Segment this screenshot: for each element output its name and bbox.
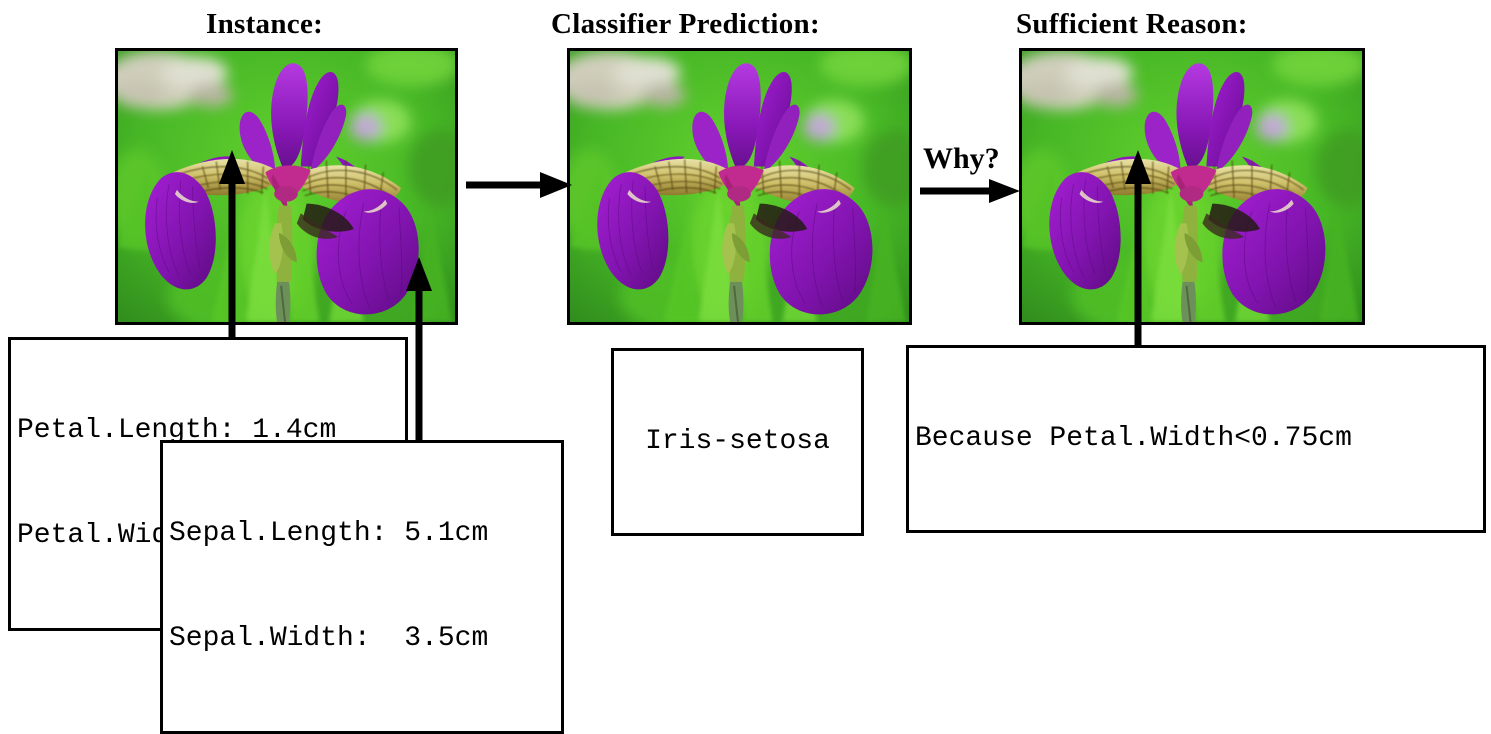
- prediction-flower-image: [567, 48, 912, 325]
- reason-text: Because Petal.Width<0.75cm: [915, 421, 1477, 456]
- panel-title-prediction: Classifier Prediction:: [551, 8, 820, 41]
- petal-pointer-arrow: [216, 148, 248, 348]
- sepal-width-text: Sepal.Width: 3.5cm: [169, 621, 555, 656]
- prediction-text: Iris-setosa: [620, 424, 855, 459]
- panel-title-reason: Sufficient Reason:: [1016, 8, 1248, 41]
- iris-flower-photo: [1022, 51, 1362, 322]
- reason-flower-image: [1019, 48, 1365, 325]
- prediction-label-box: Iris-setosa: [611, 348, 864, 536]
- reason-pointer-arrow: [1122, 148, 1154, 348]
- iris-flower-photo: [570, 51, 909, 322]
- flow-arrow-1: [464, 166, 574, 204]
- sepal-measurements-box: Sepal.Length: 5.1cm Sepal.Width: 3.5cm: [160, 440, 564, 734]
- flow-arrow-2: [918, 174, 1022, 208]
- figure-canvas: Instance:: [0, 0, 1491, 546]
- panel-title-instance: Instance:: [206, 8, 323, 41]
- why-arrow-label: Why?: [921, 142, 1002, 176]
- sufficient-reason-box: Because Petal.Width<0.75cm: [906, 345, 1486, 533]
